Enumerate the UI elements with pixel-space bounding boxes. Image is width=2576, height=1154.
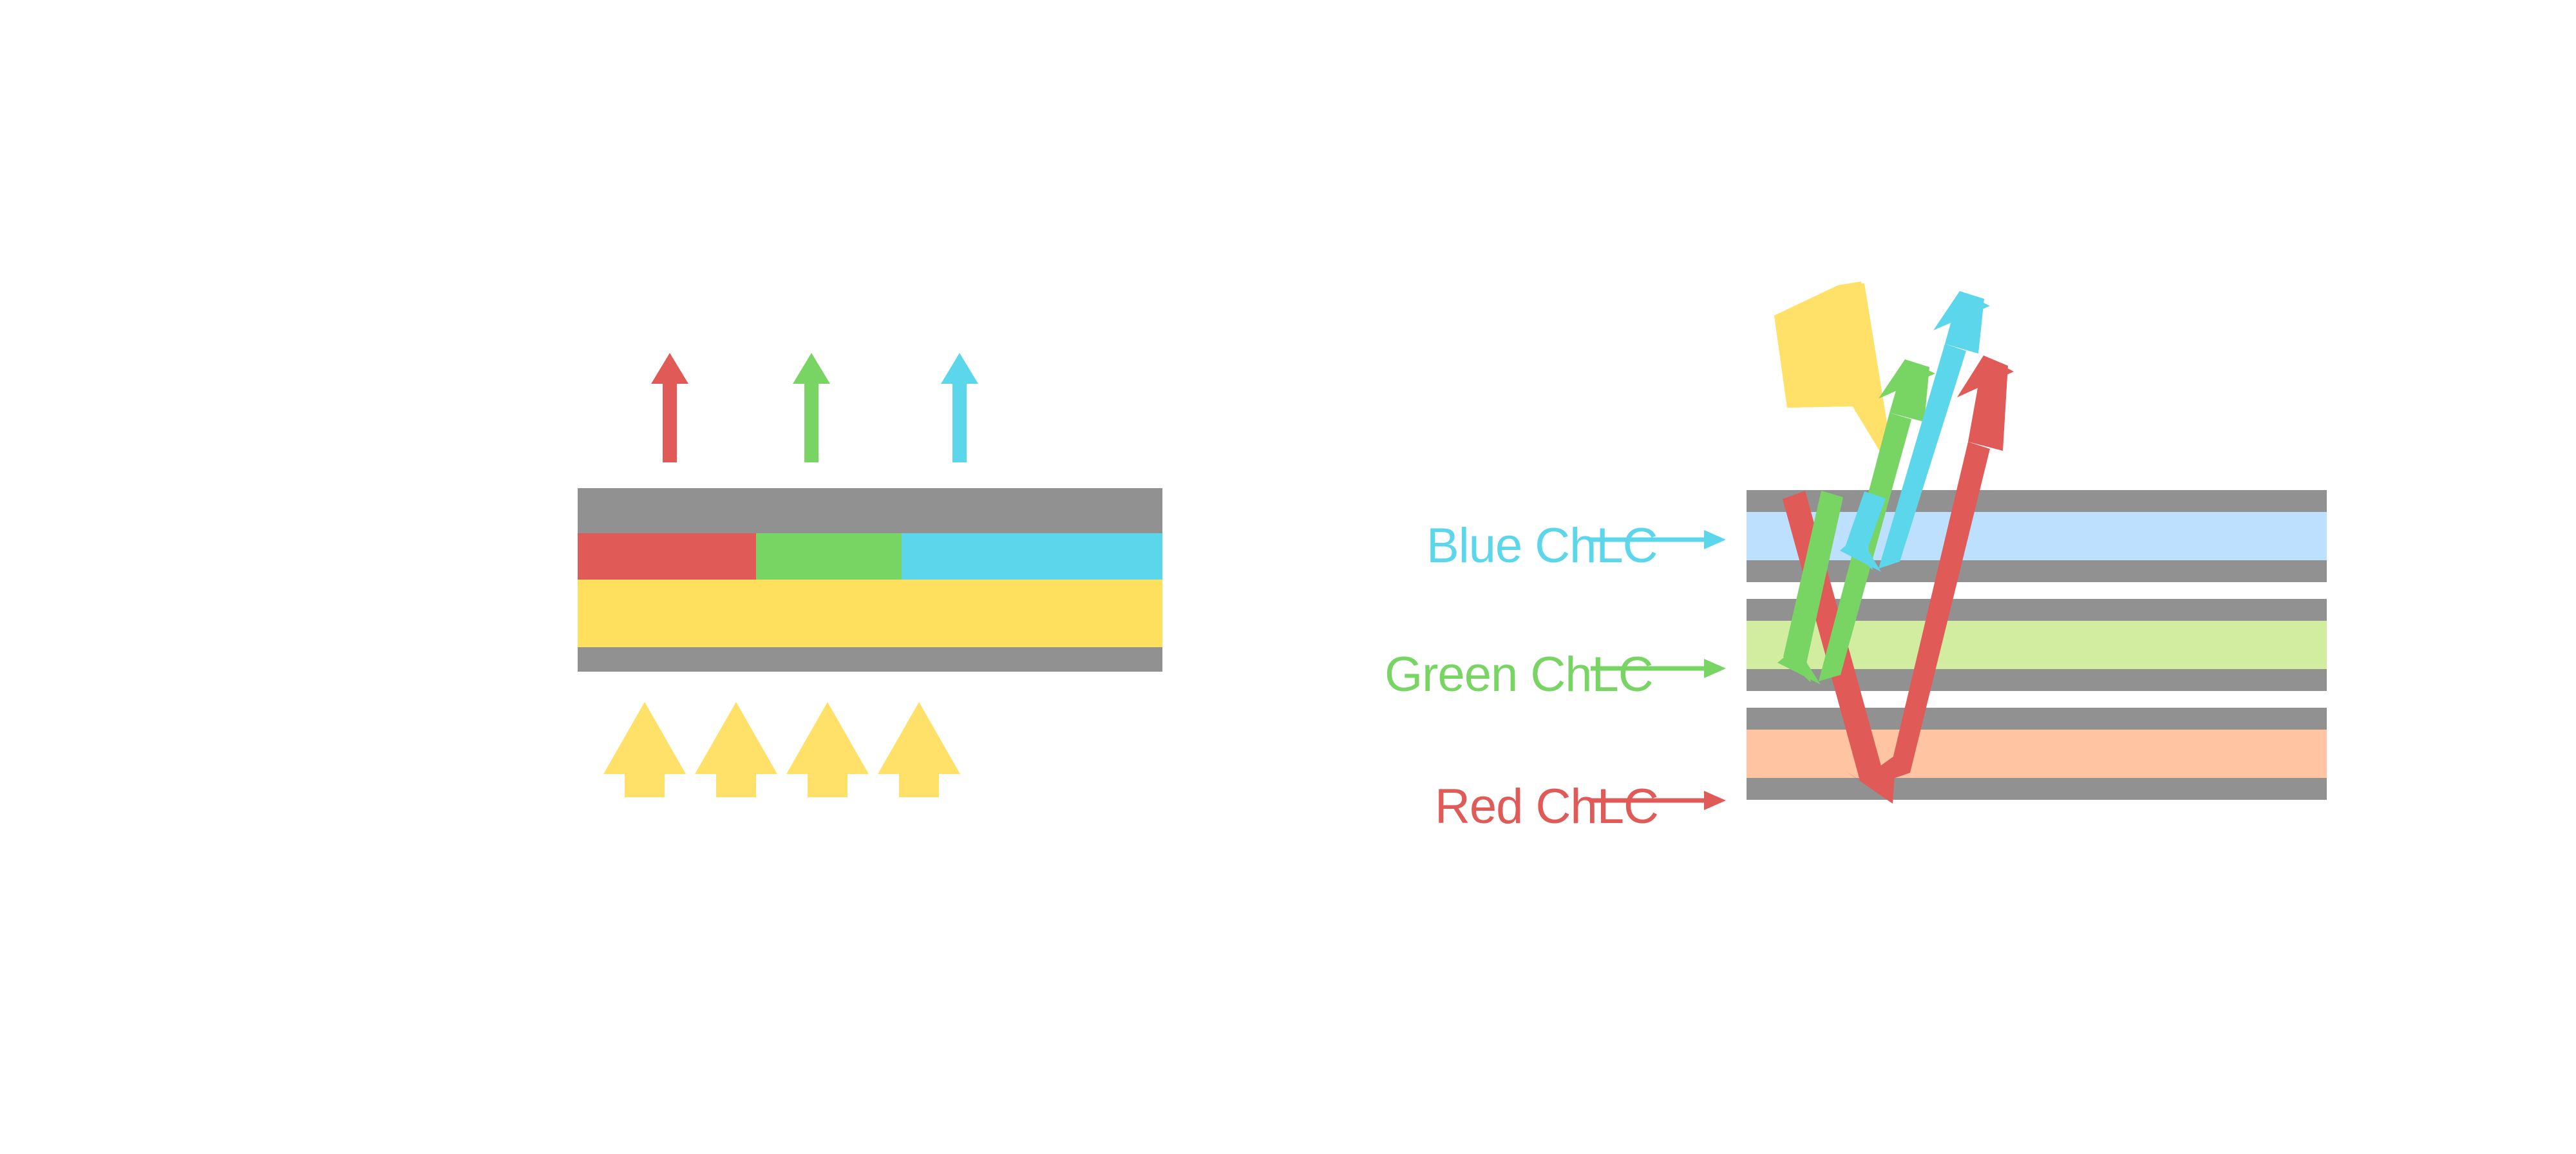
- blue-chlc-label: Blue ChLC: [1426, 522, 1658, 571]
- green-chlc-label: Green ChLC: [1385, 650, 1653, 699]
- red-chlc-label: Red ChLC: [1435, 782, 1658, 831]
- right-panel-rays: [0, 0, 2576, 1154]
- incident-white-light-arrow: [1774, 281, 1896, 478]
- diagram-canvas: Blue ChLC Green ChLC Red ChLC: [0, 0, 2576, 1154]
